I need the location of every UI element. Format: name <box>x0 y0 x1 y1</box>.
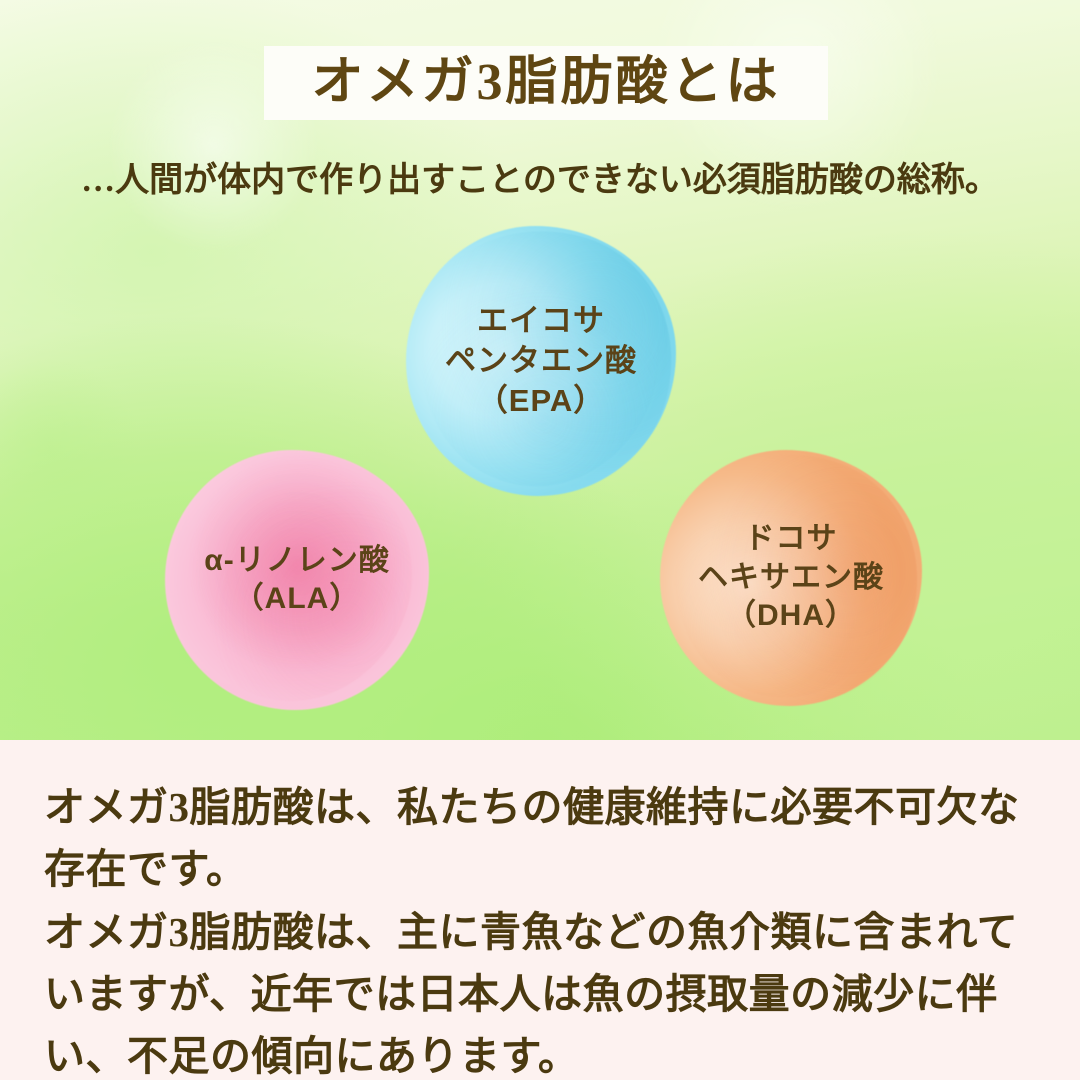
body-copy: オメガ3脂肪酸は、私たちの健康維持に必要不可欠な存在です。 オメガ3脂肪酸は、主… <box>44 776 1044 1080</box>
subtitle-text: …人間が体内で作り出すことのできない必須脂肪酸の総称。 <box>0 152 1080 201</box>
blob-dha-label: ドコサ ヘキサエン酸 （DHA） <box>698 520 884 635</box>
blob-dha-line-2: ヘキサエン酸 <box>698 561 884 594</box>
blob-dha: ドコサ ヘキサエン酸 （DHA） <box>660 450 922 706</box>
omega3-infographic-poster: オメガ3脂肪酸とは …人間が体内で作り出すことのできない必須脂肪酸の総称。 エイ… <box>0 0 1080 1080</box>
blob-epa-line-3: （EPA） <box>477 383 605 418</box>
blob-ala: α-リノレン酸 （ALA） <box>165 450 429 710</box>
blob-epa: エイコサ ペンタエン酸 （EPA） <box>406 226 676 496</box>
blob-epa-line-2: ペンタエン酸 <box>445 343 637 378</box>
body-paragraph-2: オメガ3脂肪酸は、主に青魚などの魚介類に含まれていますが、近年では日本人は魚の摂… <box>44 901 1044 1080</box>
blob-epa-label: エイコサ ペンタエン酸 （EPA） <box>445 301 637 420</box>
title-banner: オメガ3脂肪酸とは <box>264 46 828 120</box>
blob-epa-line-1: エイコサ <box>477 303 605 338</box>
blob-dha-line-1: ドコサ <box>745 522 838 555</box>
blob-ala-line-2: （ALA） <box>234 582 361 615</box>
body-paragraph-1: オメガ3脂肪酸は、私たちの健康維持に必要不可欠な存在です。 <box>44 776 1044 901</box>
blob-dha-line-3: （DHA） <box>726 599 856 632</box>
blob-ala-line-1: α-リノレン酸 <box>204 544 389 577</box>
blob-ala-label: α-リノレン酸 （ALA） <box>204 542 389 619</box>
page-title: オメガ3脂肪酸とは <box>311 57 780 109</box>
